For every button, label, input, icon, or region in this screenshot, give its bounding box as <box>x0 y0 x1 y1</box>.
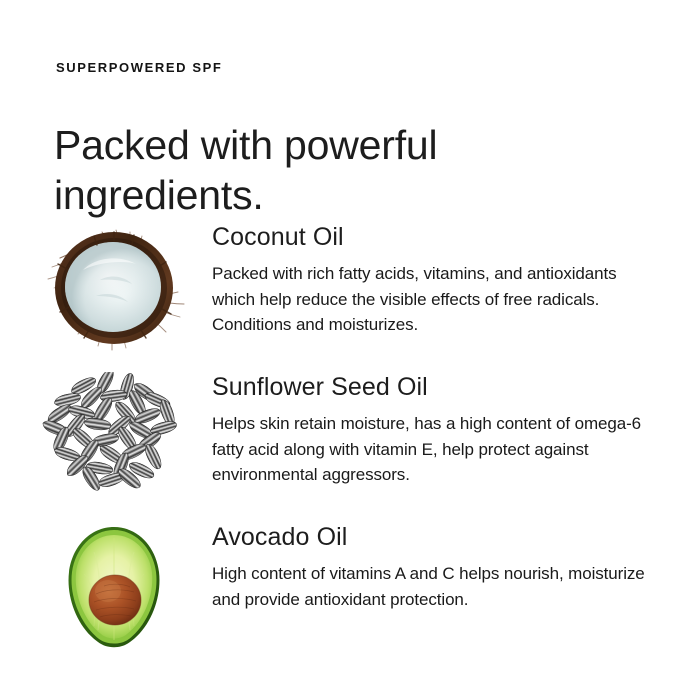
eyebrow-label: SUPERPOWERED SPF <box>56 60 222 75</box>
page-title: Packed with powerful ingredients. <box>54 120 574 220</box>
ingredient-title: Avocado Oil <box>212 522 664 552</box>
ingredient-title: Sunflower Seed Oil <box>212 372 664 402</box>
ingredient-text-avocado: Avocado Oil High content of vitamins A a… <box>212 522 664 612</box>
ingredient-description: Packed with rich fatty acids, vitamins, … <box>212 261 664 338</box>
ingredients-panel: SUPERPOWERED SPF Packed with powerful in… <box>0 0 679 679</box>
ingredient-text-coconut: Coconut Oil Packed with rich fatty acids… <box>212 222 664 338</box>
sunflower-seeds-image <box>38 372 190 504</box>
coconut-half-image <box>38 222 190 354</box>
ingredient-description: High content of vitamins A and C helps n… <box>212 561 664 612</box>
avocado-half-image <box>38 522 190 654</box>
seed-pile <box>41 372 178 493</box>
ingredient-text-sunflower: Sunflower Seed Oil Helps skin retain moi… <box>212 372 664 488</box>
ingredient-title: Coconut Oil <box>212 222 664 252</box>
ingredient-description: Helps skin retain moisture, has a high c… <box>212 411 664 488</box>
